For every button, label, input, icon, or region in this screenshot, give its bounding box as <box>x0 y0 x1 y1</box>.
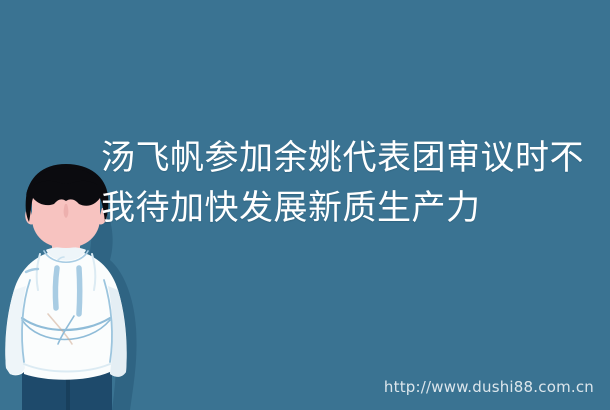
article-cover-card: 汤飞帆参加余姚代表团审议时不我待加快发展新质生产力 http://www.dus… <box>0 0 610 410</box>
watermark-url: http://www.dushi88.com.cn <box>384 378 594 396</box>
page-title: 汤飞帆参加余姚代表团审议时不我待加快发展新质生产力 <box>101 133 601 233</box>
